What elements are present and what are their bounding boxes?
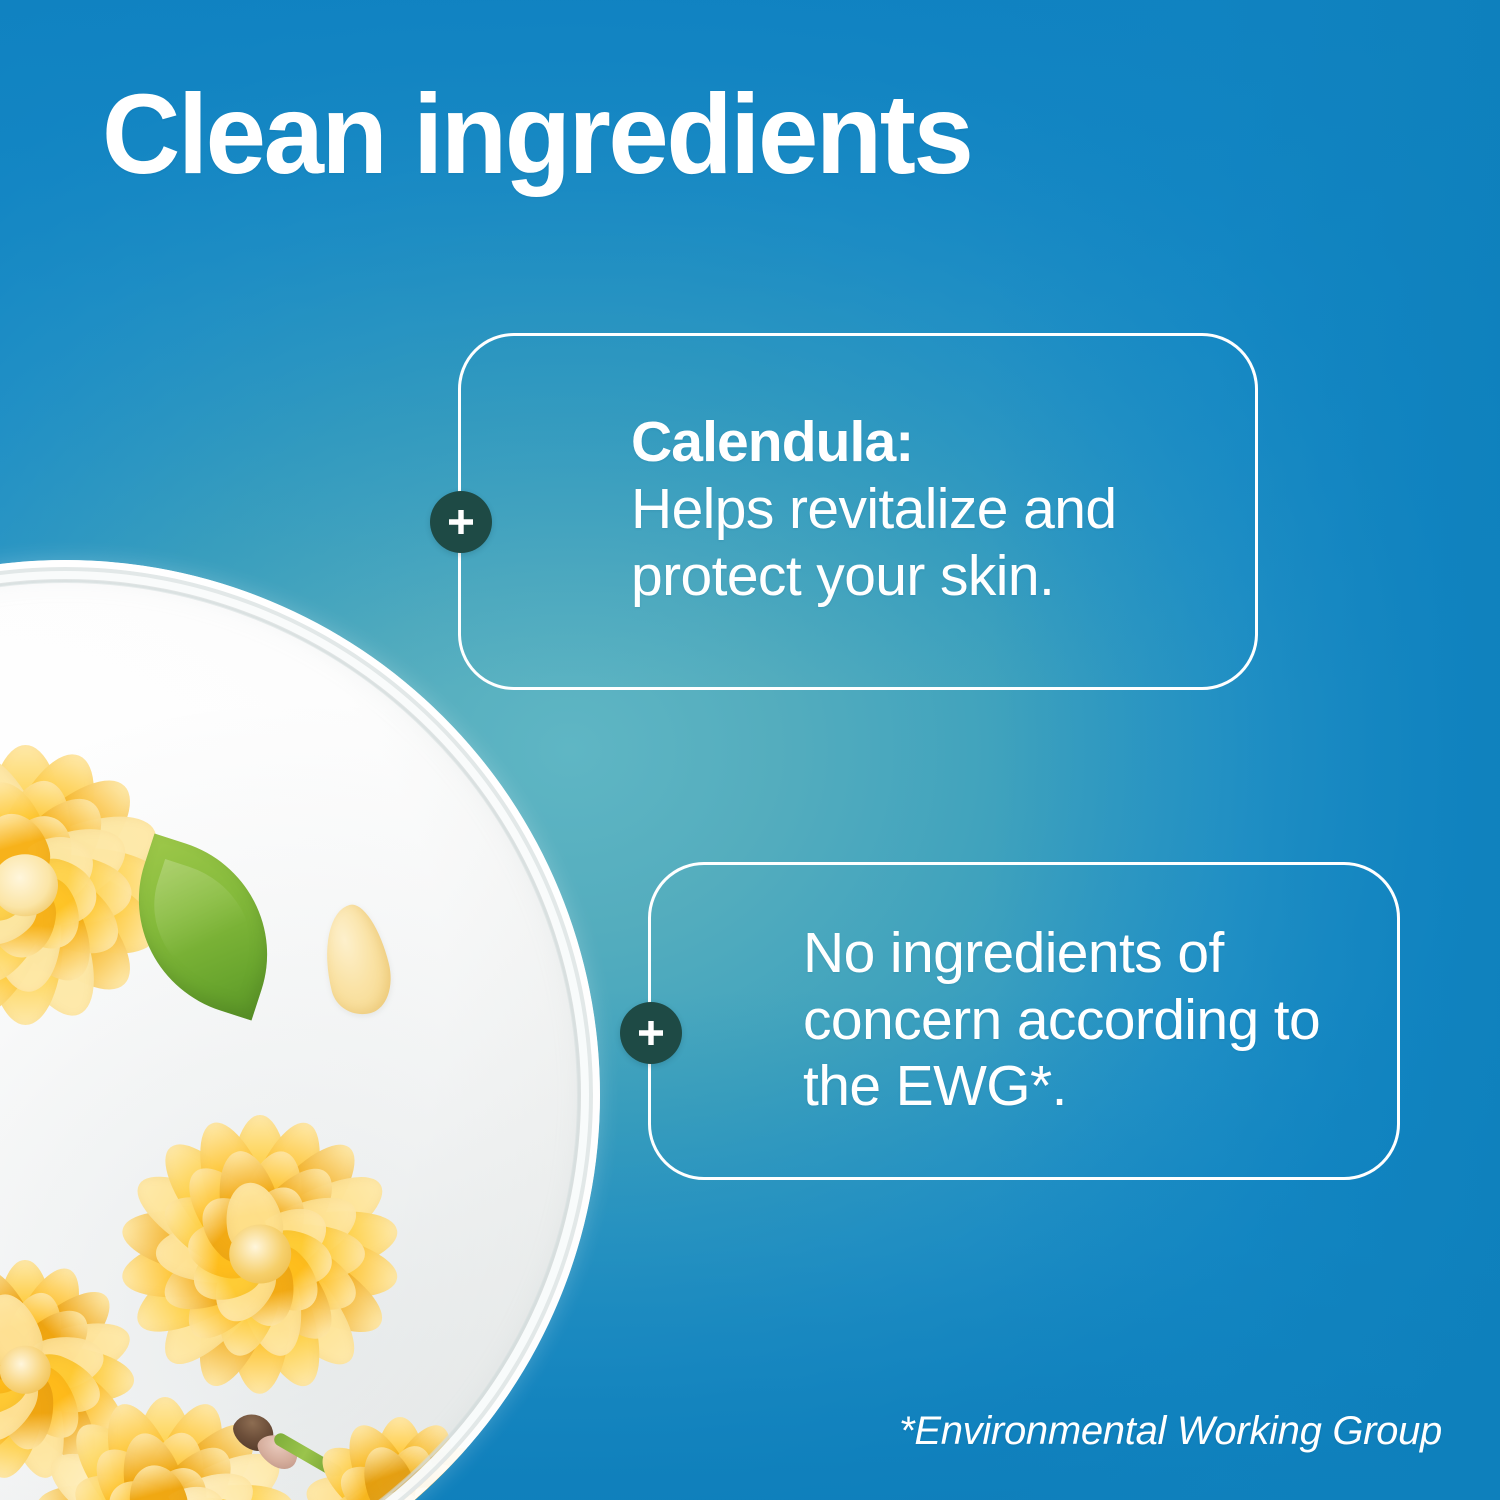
infographic-canvas: Clean ingredients Calendula: Helps revit…	[0, 0, 1500, 1500]
callout-lead: Calendula:	[631, 409, 1255, 476]
callout-card-calendula-text: Calendula: Helps revitalize and protect …	[631, 409, 1255, 609]
background-tint-right	[990, 0, 1500, 1500]
plus-icon	[620, 1002, 682, 1064]
footnote: *Environmental Working Group	[899, 1409, 1442, 1454]
callout-card-ewg-text: No ingredients of concern according to t…	[803, 920, 1397, 1120]
callout-card-calendula: Calendula: Helps revitalize and protect …	[458, 333, 1258, 690]
callout-body: Helps revitalize and protect your skin.	[631, 477, 1116, 608]
plus-icon	[430, 491, 492, 553]
callout-card-ewg: No ingredients of concern according to t…	[648, 862, 1400, 1180]
page-title: Clean ingredients	[102, 78, 971, 191]
callout-body: No ingredients of concern according to t…	[803, 921, 1320, 1118]
